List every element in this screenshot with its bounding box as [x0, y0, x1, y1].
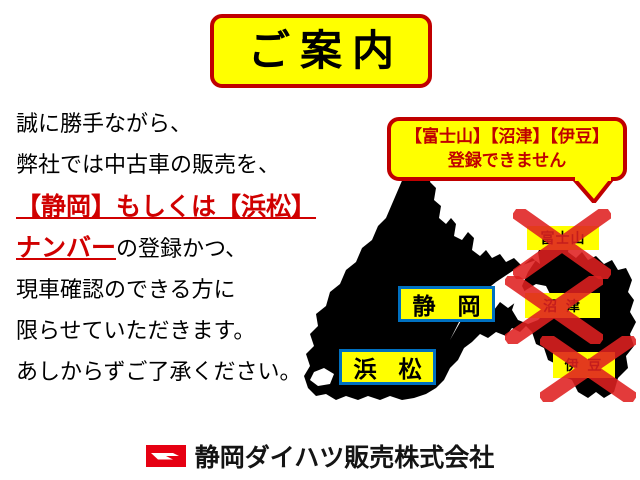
notice-line-4: ナンバーの登録かつ、: [16, 227, 334, 270]
map-label-fujisan: 富士山: [527, 226, 599, 250]
page-title: ご案内: [238, 30, 404, 72]
notice-line-1: 誠に勝手ながら、: [16, 104, 334, 145]
notice-line-7: あしからずご了承ください。: [16, 352, 334, 393]
notice-line-4-emphasis: ナンバー: [16, 233, 116, 262]
company-name: 静岡ダイハツ販売株式会社: [195, 438, 495, 474]
callout-line-1: 【富士山】【沼津】【伊豆】: [405, 125, 609, 149]
notice-line-3-emphasis: 【静岡】もしくは【浜松】: [16, 186, 334, 227]
callout-line-2: 登録できません: [448, 149, 567, 173]
notice-text-block: 誠に勝手ながら、 弊社では中古車の販売を、 【静岡】もしくは【浜松】 ナンバーの…: [16, 104, 334, 393]
callout-body: 【富士山】【沼津】【伊豆】 登録できません: [387, 117, 627, 181]
callout-tail-icon: [572, 177, 614, 203]
map-label-izu: 伊 豆: [553, 352, 615, 378]
map-label-shizuoka: 静 岡: [398, 286, 495, 322]
map-label-numazu: 沼 津: [525, 293, 600, 318]
notice-poster: ご案内 誠に勝手ながら、 弊社では中古車の販売を、 【静岡】もしくは【浜松】 ナ…: [0, 0, 640, 480]
notice-line-5: 現車確認のできる方に: [16, 270, 334, 311]
daihatsu-logo-icon: [146, 445, 186, 467]
callout-bubble: 【富士山】【沼津】【伊豆】 登録できません: [387, 117, 627, 181]
footer-logo-bar: 静岡ダイハツ販売株式会社: [0, 436, 640, 476]
notice-line-4-suffix: の登録かつ、: [116, 237, 247, 262]
title-banner: ご案内: [210, 14, 432, 88]
notice-line-2: 弊社では中古車の販売を、: [16, 145, 334, 186]
map-label-hamamatsu: 浜 松: [339, 349, 436, 385]
notice-line-6: 限らせていただきます。: [16, 311, 334, 352]
